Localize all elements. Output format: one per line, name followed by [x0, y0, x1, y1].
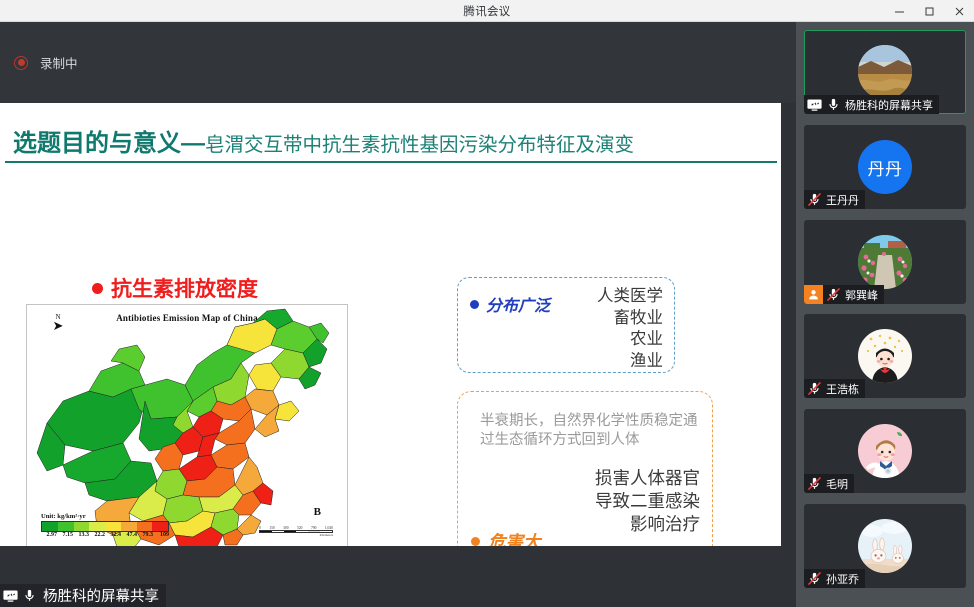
scale-number: 150	[269, 526, 274, 530]
participant-tile-guo-xunfeng[interactable]: 郭巽峰	[804, 220, 966, 304]
participant-name: 杨胜科的屏幕共享	[845, 97, 933, 113]
active-sharer-name: 杨胜科的屏幕共享	[43, 585, 159, 606]
legend-unit-label: Unit: kg/km²·yr	[41, 513, 169, 520]
wide-distribution-label: 分布广泛	[486, 292, 550, 316]
participant-name: 郭巽峰	[845, 287, 878, 303]
avatar: 丹丹	[858, 140, 912, 194]
presentation-slide: 选题目的与意义—皂渭交互带中抗生素抗性基因污染分布特征及演变 抗生素排放密度 A…	[0, 103, 781, 546]
map-graphic	[27, 305, 348, 546]
legend-tick-label: 22.2	[89, 532, 105, 538]
status-badge: 王丹丹	[804, 190, 865, 209]
wide-distribution-header: 分布广泛	[470, 292, 550, 316]
microphone-muted-icon	[825, 286, 842, 303]
page-title: 选题目的与意义—皂渭交互带中抗生素抗性基因污染分布特征及演变	[13, 123, 634, 158]
legend-color-swatch	[42, 522, 58, 531]
participant-tile-wang-haodong[interactable]: 王浩栋	[804, 314, 966, 398]
map-panel-letter: B	[314, 506, 321, 518]
avatar	[858, 45, 912, 99]
status-badge: 杨胜科的屏幕共享	[804, 95, 939, 114]
participant-name: 王浩栋	[826, 381, 859, 397]
avatar-cartoon-boy-white	[858, 329, 912, 383]
microphone-muted-icon	[806, 475, 823, 492]
screen-share-icon	[2, 587, 19, 604]
participant-tile-wang-dandan[interactable]: 丹丹 王丹丹	[804, 125, 966, 209]
section-bullet-label: 抗生素排放密度	[111, 273, 258, 303]
participant-name: 孙亚乔	[826, 571, 859, 587]
window-controls	[884, 0, 974, 22]
scale-number: 0	[259, 526, 261, 530]
tencent-meeting-window: 腾讯会议 录制中 选题目的与意义—皂渭交互带中抗生素抗性基因污染分布特征及演变	[0, 0, 974, 607]
status-badge: 郭巽峰	[804, 285, 884, 304]
list-item: 农业	[597, 328, 663, 350]
recording-bar: 录制中	[0, 22, 796, 103]
participant-tile-sun-yaqiao[interactable]: 孙亚乔	[804, 504, 966, 588]
scale-number: 520	[297, 526, 302, 530]
scale-unit-label: Kilometers	[259, 533, 333, 537]
legend-tick-label: 79.3	[137, 532, 153, 538]
participant-name: 毛明	[826, 476, 848, 492]
avatar-photo-landscape	[858, 45, 912, 99]
microphone-icon	[825, 96, 842, 113]
screen-share-icon	[806, 96, 823, 113]
high-harm-box: 半衰期长，自然界化学性质稳定通过生态循环方式回到人体 损害人体器官 导致二重感染…	[457, 391, 713, 546]
legend-color-bars	[41, 521, 169, 532]
map-legend: Unit: kg/km²·yr 2.977.1513.322.232.447.4…	[41, 513, 169, 539]
scale-number: 1,040	[325, 526, 333, 530]
list-item: 畜牧业	[597, 307, 663, 329]
scale-numbers: 01503005207901,040	[259, 526, 333, 530]
high-harm-header: 危害大	[471, 529, 541, 546]
slide-title-sub: 皂渭交互带中抗生素抗性基因污染分布特征及演变	[205, 133, 634, 156]
legend-color-swatch	[89, 522, 105, 531]
avatar	[858, 424, 912, 478]
window-title: 腾讯会议	[463, 3, 510, 19]
harm-note-text: 半衰期长，自然界化学性质稳定通过生态循环方式回到人体	[480, 412, 698, 450]
legend-tick-labels: 2.977.1513.322.232.447.479.3109	[41, 532, 169, 538]
status-badge: 孙亚乔	[804, 569, 865, 588]
harm-effects-list: 损害人体器官 导致二重感染 影响治疗	[595, 468, 700, 537]
avatar-cartoon-boy-pink	[858, 424, 912, 478]
participant-rail[interactable]: 杨胜科的屏幕共享 丹丹 王丹丹	[796, 22, 974, 607]
status-badge: 王浩栋	[804, 379, 865, 398]
legend-tick-label: 7.15	[57, 532, 73, 538]
microphone-muted-icon	[806, 191, 823, 208]
scale-number: 300	[283, 526, 288, 530]
bullet-dot-icon	[92, 283, 103, 294]
active-sharer-label: 杨胜科的屏幕共享	[0, 584, 166, 607]
list-item: 导致二重感染	[595, 491, 700, 514]
status-badge: 毛明	[804, 474, 854, 493]
legend-color-swatch	[105, 522, 121, 531]
avatar-initials: 丹丹	[868, 155, 903, 180]
bullet-dot-icon	[470, 300, 479, 309]
participant-tile-yang-shengke-share[interactable]: 杨胜科的屏幕共享	[804, 30, 966, 114]
list-item: 损害人体器官	[595, 468, 700, 491]
close-button[interactable]	[944, 0, 974, 22]
participant-name: 王丹丹	[826, 192, 859, 208]
scale-number: 790	[311, 526, 316, 530]
legend-tick-label: 47.4	[121, 532, 137, 538]
legend-tick-label: 13.3	[73, 532, 89, 538]
wide-distribution-box: 分布广泛 人类医学 畜牧业 农业 渔业	[457, 277, 675, 373]
avatar	[858, 235, 912, 289]
avatar-cartoon-bunny	[858, 519, 912, 573]
maximize-button[interactable]	[914, 0, 944, 22]
list-item: 渔业	[597, 350, 663, 372]
wide-distribution-items: 人类医学 畜牧业 农业 渔业	[597, 285, 663, 371]
legend-color-swatch	[137, 522, 153, 531]
list-item: 人类医学	[597, 285, 663, 307]
avatar	[858, 329, 912, 383]
china-antibiotics-emission-map: Antibioties Emission Map of China N ➤	[26, 304, 348, 546]
legend-color-swatch	[74, 522, 90, 531]
list-item: 影响治疗	[595, 514, 700, 537]
microphone-muted-icon	[806, 570, 823, 587]
legend-color-swatch	[121, 522, 137, 531]
recording-icon	[13, 55, 29, 71]
host-icon	[804, 285, 823, 304]
participant-tile-mao-ming[interactable]: 毛明	[804, 409, 966, 493]
section-bullet-emission-density: 抗生素排放密度	[92, 273, 258, 303]
shared-screen-stage: 录制中 选题目的与意义—皂渭交互带中抗生素抗性基因污染分布特征及演变 抗生素排放…	[0, 22, 796, 607]
legend-color-swatch	[152, 522, 168, 531]
bullet-dot-icon	[471, 537, 480, 546]
title-divider	[5, 161, 777, 163]
avatar-photo-garden	[858, 235, 912, 289]
recording-label: 录制中	[40, 53, 78, 72]
microphone-icon	[21, 587, 38, 604]
minimize-button[interactable]	[884, 0, 914, 22]
high-harm-label: 危害大	[488, 529, 541, 546]
legend-tick-label: 2.97	[41, 532, 57, 538]
avatar	[858, 519, 912, 573]
legend-color-swatch	[58, 522, 74, 531]
legend-tick-label: 109	[153, 532, 169, 538]
microphone-muted-icon	[806, 380, 823, 397]
title-bar: 腾讯会议	[0, 0, 974, 22]
slide-title-main: 选题目的与意义	[13, 129, 181, 157]
legend-tick-label: 32.4	[105, 532, 121, 538]
map-scale-bar: 01503005207901,040 Kilometers	[259, 526, 333, 538]
slide-title-dash: —	[181, 130, 205, 157]
